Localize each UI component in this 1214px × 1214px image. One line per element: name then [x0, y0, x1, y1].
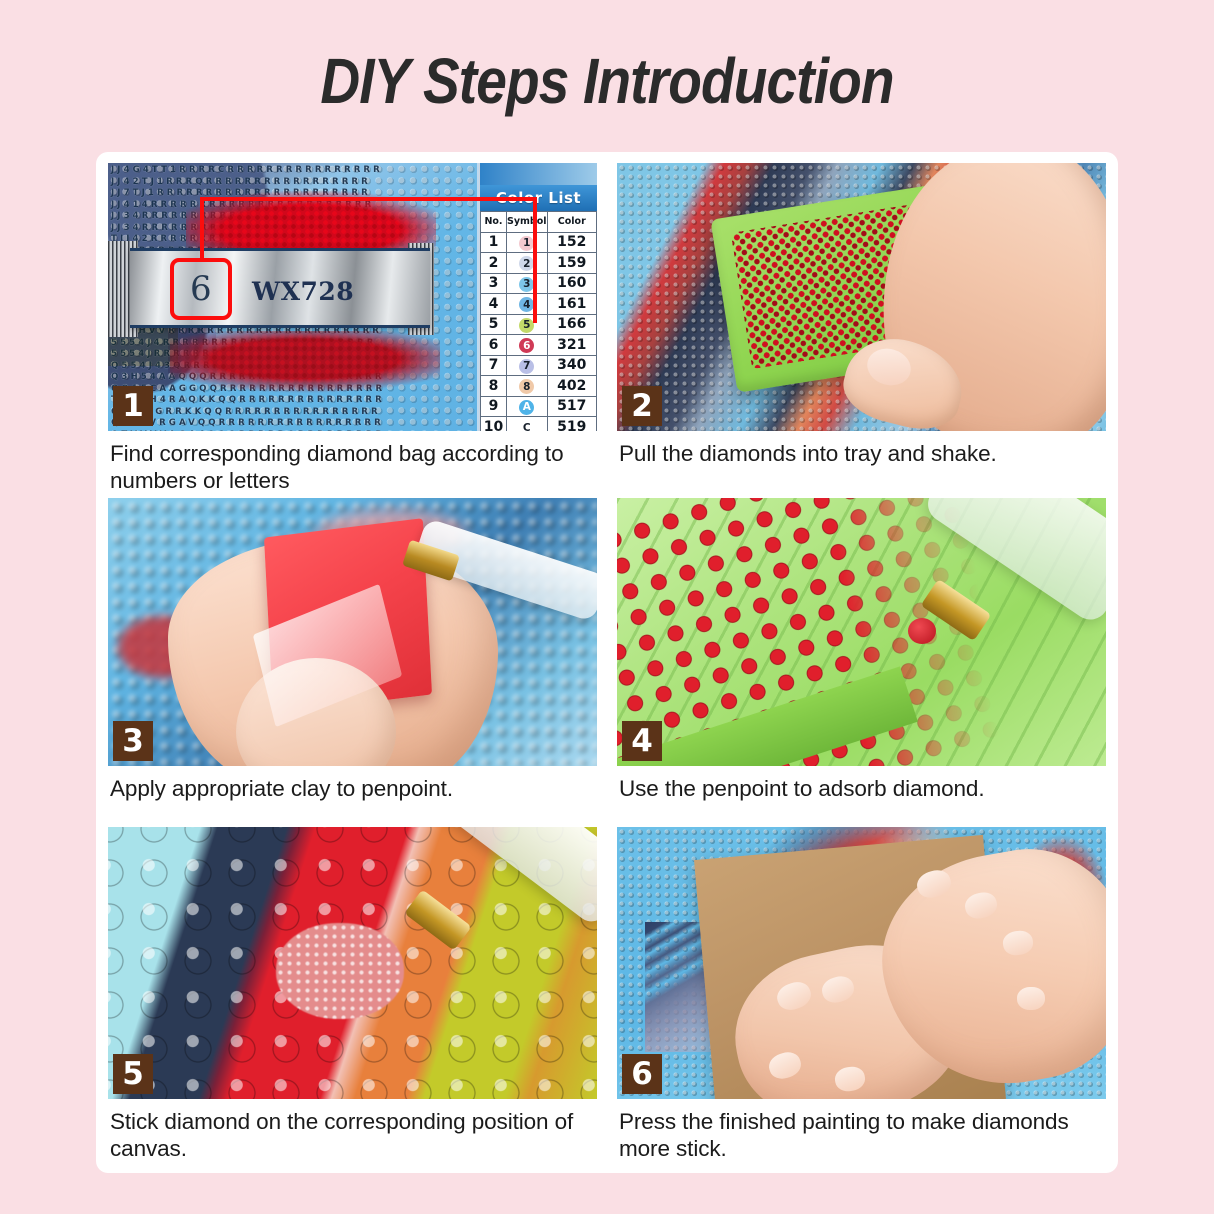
cell-no: 6	[481, 335, 507, 356]
cell-symbol: 8	[507, 376, 548, 397]
step-5-photo: 5	[108, 827, 597, 1099]
cell-color: 321	[547, 335, 596, 356]
table-row: 5 5 166	[481, 314, 597, 335]
table-row: 4 4 161	[481, 294, 597, 315]
column-header-color: Color	[547, 212, 596, 233]
callout-line-vertical-right	[533, 197, 537, 323]
empty-canvas-patch	[276, 923, 404, 1019]
step-6-photo: e Book 6	[617, 827, 1106, 1099]
column-header-no: No.	[481, 212, 507, 233]
step-caption-4: Use the penpoint to adsorb diamond.	[617, 766, 1106, 802]
page-title: DIY Steps Introduction	[85, 44, 1129, 118]
cell-no: 2	[481, 253, 507, 274]
cell-no: 4	[481, 294, 507, 315]
step-badge-5: 5	[113, 1054, 153, 1094]
cell-symbol: 5	[507, 314, 548, 335]
table-row: 1 1 152	[481, 232, 597, 253]
step-4-photo: 4	[617, 498, 1106, 766]
step-3: 3 Apply appropriate clay to penpoint.	[108, 498, 597, 823]
cell-color: 519	[547, 417, 596, 432]
color-list-body: 1 1 152 2 2 159 3	[481, 232, 597, 431]
step-caption-5: Stick diamond on the corresponding posit…	[108, 1099, 597, 1162]
step-caption-3: Apply appropriate clay to penpoint.	[108, 766, 597, 802]
cell-color: 340	[547, 355, 596, 376]
steps-card: JJ4G4TT1RRRRCRRRRRRRRRRRRRRRR JJ42TJ1RRR…	[96, 152, 1118, 1173]
step-caption-6: Press the finished painting to make diam…	[617, 1099, 1106, 1162]
loose-diamonds-bottom	[170, 331, 440, 393]
step-caption-2: Pull the diamonds into tray and shake.	[617, 431, 1106, 467]
step-3-photo: 3	[108, 498, 597, 766]
cell-color: 160	[547, 273, 596, 294]
cell-color: 402	[547, 376, 596, 397]
column-header-symbol: Symbol	[507, 212, 548, 233]
step-6: e Book 6 Press the finish	[617, 827, 1106, 1162]
table-row: 2 2 159	[481, 253, 597, 274]
cell-color: 166	[547, 314, 596, 335]
step-badge-1: 1	[113, 386, 153, 426]
table-row: 9 A 517	[481, 396, 597, 417]
cell-symbol: 1	[507, 232, 548, 253]
table-row: 10 C 519	[481, 417, 597, 432]
table-row: 8 8 402	[481, 376, 597, 397]
bag-code-label: WX728	[252, 277, 354, 306]
step-5: 5 Stick diamond on the corresponding pos…	[108, 827, 597, 1162]
step-2-photo: 2	[617, 163, 1106, 431]
fingernails	[617, 827, 1106, 1099]
color-list-panel: Color List No. Symbol Color	[479, 163, 597, 431]
color-list-header-strip	[480, 163, 597, 185]
step-badge-2: 2	[622, 386, 662, 426]
color-list-table: No. Symbol Color 1 1 152	[480, 211, 597, 431]
cell-color: 152	[547, 232, 596, 253]
cell-symbol: 7	[507, 355, 548, 376]
step-caption-1: Find corresponding diamond bag according…	[108, 431, 597, 494]
step-badge-3: 3	[113, 721, 153, 761]
cell-no: 9	[481, 396, 507, 417]
step-badge-4: 4	[622, 721, 662, 761]
steps-grid: JJ4G4TT1RRRRCRRRRRRRRRRRRRRRR JJ42TJ1RRR…	[108, 163, 1106, 1162]
cell-symbol: 4	[507, 294, 548, 315]
callout-line-horizontal	[200, 197, 537, 201]
step-1: JJ4G4TT1RRRRCRRRRRRRRRRRRRRRR JJ42TJ1RRR…	[108, 163, 597, 494]
cell-color: 161	[547, 294, 596, 315]
cell-color: 159	[547, 253, 596, 274]
cell-no: 5	[481, 314, 507, 335]
table-row: 6 6 321	[481, 335, 597, 356]
diamond-on-pen-tip	[908, 618, 936, 644]
cell-no: 10	[481, 417, 507, 432]
step-2: 2 Pull the diamonds into tray and shake.	[617, 163, 1106, 494]
cell-color: 517	[547, 396, 596, 417]
canvas-chart: JJ4G4TT1RRRRCRRRRRRRRRRRRRRRR JJ42TJ1RRR…	[108, 163, 477, 431]
table-row: 3 3 160	[481, 273, 597, 294]
cell-symbol: A	[507, 396, 548, 417]
cell-no: 7	[481, 355, 507, 376]
callout-line-vertical-left	[200, 197, 204, 261]
cell-symbol: 2	[507, 253, 548, 274]
cell-symbol: 3	[507, 273, 548, 294]
cell-no: 8	[481, 376, 507, 397]
infographic-page: DIY Steps Introduction JJ4G4TT1RRRRCRRRR…	[0, 0, 1214, 1214]
cell-no: 1	[481, 232, 507, 253]
color-list-header-row: No. Symbol Color	[481, 212, 597, 233]
table-row: 7 7 340	[481, 355, 597, 376]
step-4: 4 Use the penpoint to adsorb diamond.	[617, 498, 1106, 823]
cell-symbol: 6	[507, 335, 548, 356]
cell-no: 3	[481, 273, 507, 294]
callout-box-bag-number	[170, 258, 232, 320]
cell-symbol: C	[507, 417, 548, 432]
step-badge-6: 6	[622, 1054, 662, 1094]
step-1-photo: JJ4G4TT1RRRRCRRRRRRRRRRRRRRRR JJ42TJ1RRR…	[108, 163, 597, 431]
